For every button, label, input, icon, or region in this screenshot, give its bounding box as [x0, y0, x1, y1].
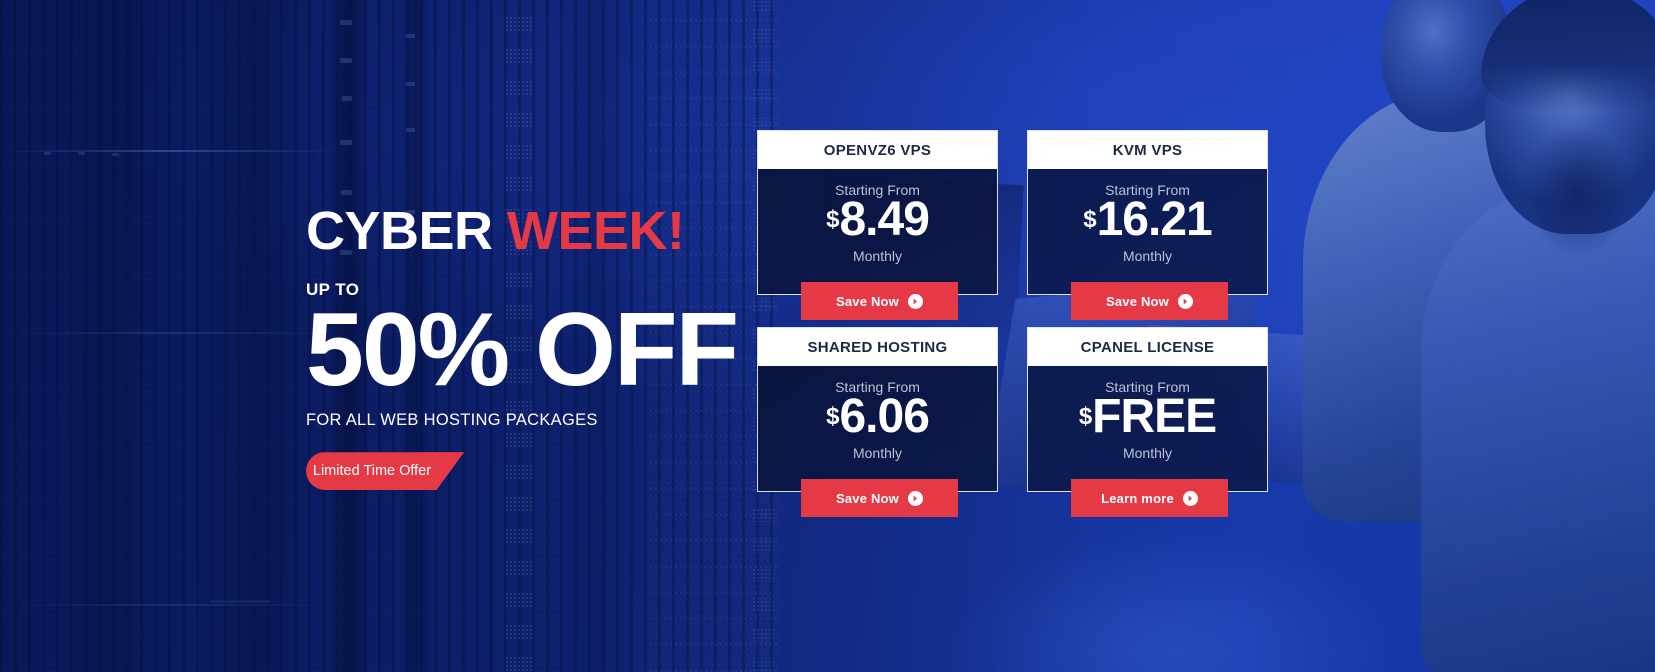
- discount-headline: 50% OFF: [306, 296, 726, 405]
- billing-period: Monthly: [1123, 248, 1172, 264]
- card-body: Starting From $ 8.49 Monthly: [758, 169, 997, 294]
- promo-copy: CYBER WEEK! UP TO 50% OFF FOR ALL WEB HO…: [306, 204, 726, 490]
- billing-period: Monthly: [853, 248, 902, 264]
- pricing-card-shared-hosting[interactable]: SHARED HOSTING Starting From $ 6.06 Mont…: [757, 327, 998, 492]
- currency-symbol: $: [1083, 208, 1096, 232]
- price-amount: 16.21: [1097, 196, 1212, 244]
- cta-label: Learn more: [1101, 491, 1174, 506]
- currency-symbol: $: [1079, 405, 1092, 429]
- price-line: $ 8.49: [826, 196, 929, 244]
- promo-subline: FOR ALL WEB HOSTING PACKAGES: [306, 411, 726, 430]
- arrow-circle-right-icon: [1178, 294, 1193, 309]
- pricing-card-kvm-vps[interactable]: KVM VPS Starting From $ 16.21 Monthly Sa…: [1027, 130, 1268, 295]
- save-now-button[interactable]: Save Now: [801, 479, 958, 517]
- page-title: CYBER WEEK!: [306, 204, 726, 258]
- price-line: $ 16.21: [1083, 196, 1211, 244]
- save-now-button[interactable]: Save Now: [801, 282, 958, 320]
- learn-more-button[interactable]: Learn more: [1071, 479, 1228, 517]
- pricing-cards: OPENVZ6 VPS Starting From $ 8.49 Monthly…: [757, 130, 1269, 492]
- card-body: Starting From $ 16.21 Monthly: [1028, 169, 1267, 294]
- card-title: SHARED HOSTING: [807, 339, 947, 356]
- card-body: Starting From $ 6.06 Monthly: [758, 366, 997, 491]
- pricing-card-openvz6-vps[interactable]: OPENVZ6 VPS Starting From $ 8.49 Monthly…: [757, 130, 998, 295]
- title-primary: CYBER: [306, 201, 493, 261]
- save-now-button[interactable]: Save Now: [1071, 282, 1228, 320]
- price-line: $ FREE: [1079, 393, 1216, 441]
- cta-label: Save Now: [836, 294, 899, 309]
- card-body: Starting From $ FREE Monthly: [1028, 366, 1267, 491]
- pricing-card-cpanel-license[interactable]: CPANEL LICENSE Starting From $ FREE Mont…: [1027, 327, 1268, 492]
- card-header: SHARED HOSTING: [758, 328, 997, 366]
- card-title: OPENVZ6 VPS: [824, 142, 932, 159]
- title-accent: WEEK!: [507, 201, 684, 261]
- limited-time-offer-badge[interactable]: Limited Time Offer: [306, 452, 464, 490]
- card-title: CPANEL LICENSE: [1081, 339, 1215, 356]
- pricing-row-2: SHARED HOSTING Starting From $ 6.06 Mont…: [757, 327, 1269, 492]
- price-amount: FREE: [1092, 393, 1216, 441]
- arrow-circle-right-icon: [1183, 491, 1198, 506]
- cta-label: Save Now: [1106, 294, 1169, 309]
- card-header: CPANEL LICENSE: [1028, 328, 1267, 366]
- cta-label: Save Now: [836, 491, 899, 506]
- price-amount: 6.06: [839, 393, 928, 441]
- card-header: KVM VPS: [1028, 131, 1267, 169]
- pricing-row-1: OPENVZ6 VPS Starting From $ 8.49 Monthly…: [757, 130, 1269, 295]
- price-line: $ 6.06: [826, 393, 929, 441]
- arrow-circle-right-icon: [908, 294, 923, 309]
- billing-period: Monthly: [853, 445, 902, 461]
- arrow-circle-right-icon: [908, 491, 923, 506]
- currency-symbol: $: [826, 208, 839, 232]
- currency-symbol: $: [826, 405, 839, 429]
- card-header: OPENVZ6 VPS: [758, 131, 997, 169]
- billing-period: Monthly: [1123, 445, 1172, 461]
- card-title: KVM VPS: [1113, 142, 1183, 159]
- price-amount: 8.49: [839, 196, 928, 244]
